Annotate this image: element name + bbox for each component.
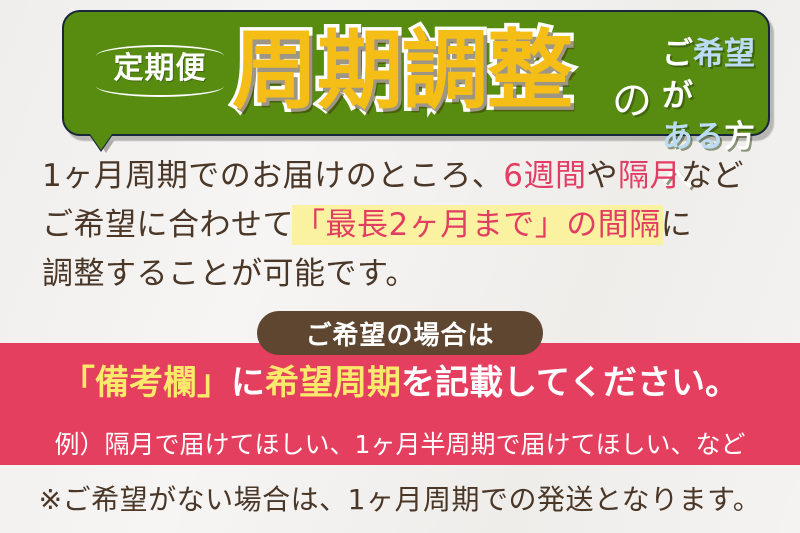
desc-line2-marked: 「最長2ヶ月まで」の間隔: [294, 207, 661, 243]
instruction-main-text: 「備考欄」に希望周期を記載してください。: [0, 363, 800, 404]
subtitle-part-3: が: [662, 78, 693, 114]
subtitle-part-2: 希望: [693, 36, 755, 72]
desc-line1-plain: 1ヶ月周期でのお届けのところ、: [42, 158, 503, 194]
badge-wave-top-icon: [92, 42, 228, 51]
bubble-tail-icon: [90, 134, 112, 150]
instruction-part-cycle: 希望周期: [265, 363, 401, 403]
description-paragraph: 1ヶ月周期でのお届けのところ、6週間や隔月など ご希望に合わせて「最長2ヶ月まで…: [42, 152, 772, 299]
desc-line1-conj: や: [586, 158, 618, 194]
subscription-badge: 定期便: [92, 42, 228, 97]
badge-label: 定期便: [92, 51, 228, 88]
subtitle-part-1: ご: [662, 36, 693, 72]
badge-wave-bottom-icon: [92, 88, 228, 97]
desc-line1-tail: など: [681, 158, 744, 194]
header-bubble: 定期便 周期調整 周期調整 の ご希望が ある方へ: [62, 10, 770, 136]
header-title-particle: の: [612, 68, 652, 126]
instruction-example: 例）隔月で届けてほしい、1ヶ月半周期で届けてほしい、など: [0, 425, 800, 461]
desc-line3: 調整することが可能です。: [42, 256, 417, 292]
desc-line1-highlight-1: 6週間: [503, 158, 586, 194]
subtitle-part-5: 方: [724, 119, 755, 155]
instruction-part-ni: に: [231, 363, 265, 403]
footer-note: ※ご希望がない場合は、1ヶ月周期での発送となります。: [0, 478, 800, 518]
subtitle-part-4: ある: [662, 119, 724, 155]
desc-line1-highlight-2: 隔月: [618, 158, 681, 194]
header-bubble-body: 定期便 周期調整 周期調整 の ご希望が ある方へ: [62, 10, 770, 136]
header-title-fill: 周期調整: [232, 28, 572, 114]
desc-line2-tail: に: [661, 207, 693, 243]
desc-line2-plain: ご希望に合わせて: [42, 207, 294, 243]
instruction-part-tail: を記載してください。: [401, 363, 739, 403]
promo-banner: 定期便 周期調整 周期調整 の ご希望が ある方へ 1ヶ月周期でのお届けのところ…: [0, 0, 800, 533]
instruction-part-remarks: 「備考欄」: [61, 363, 231, 403]
instruction-pill-label: ご希望の場合は: [257, 311, 543, 355]
